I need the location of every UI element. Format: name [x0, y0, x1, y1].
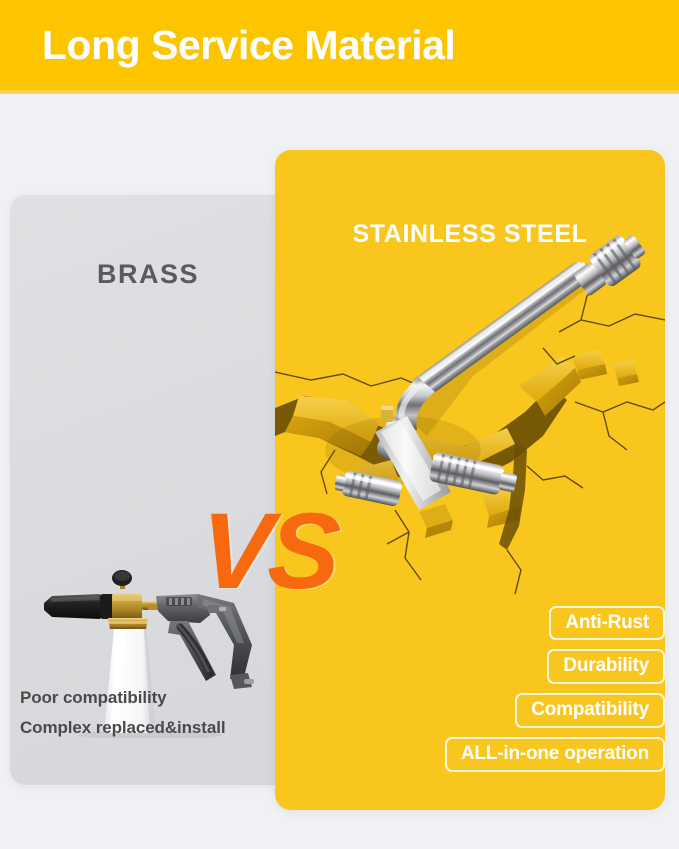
banner-underline-divider [0, 90, 679, 94]
feature-badge: Compatibility [515, 693, 665, 728]
header-banner: Long Service Material [0, 0, 679, 90]
product-comparison-infographic: Long Service Material BRASS [0, 0, 679, 849]
stainless-steel-wand-image [335, 220, 665, 550]
feature-badge: Anti-Rust [549, 606, 665, 641]
brass-con-item: Poor compatibility [20, 683, 290, 713]
feature-badge: ALL-in-one operation [445, 737, 665, 772]
brass-panel-label: BRASS [10, 259, 286, 290]
brass-cons-list: Poor compatibility Complex replaced&inst… [20, 683, 290, 743]
feature-badge: Durability [547, 649, 665, 684]
stainless-steel-comparison-panel: STAINLESS STEEL [275, 150, 665, 810]
steel-features-list: Anti-Rust Durability Compatibility ALL-i… [275, 606, 665, 772]
page-title: Long Service Material [42, 25, 455, 66]
versus-mark: VS [197, 492, 369, 617]
brass-con-item: Complex replaced&install [20, 713, 290, 743]
